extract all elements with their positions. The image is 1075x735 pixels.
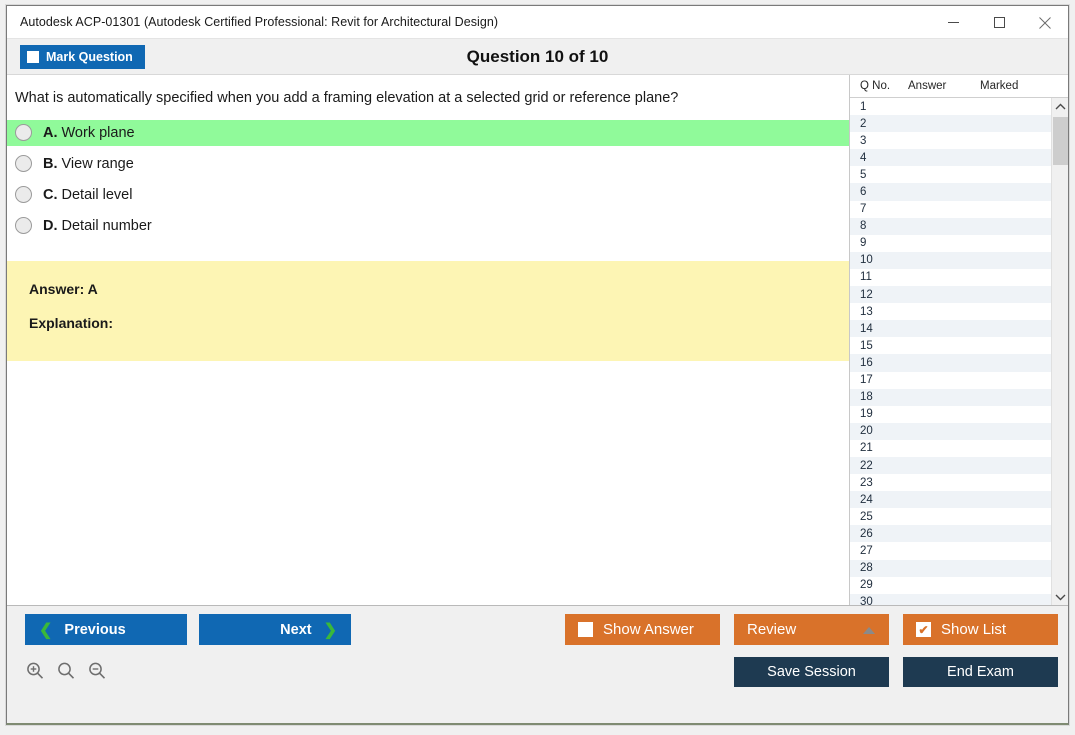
review-dropdown-button[interactable]: Review [734,614,889,645]
question-list-scrollbar[interactable] [1051,98,1068,605]
row-question-number: 25 [850,511,906,523]
question-list-row[interactable]: 3 [850,132,1051,149]
row-question-number: 7 [850,203,906,215]
scroll-up-icon[interactable] [1052,98,1068,115]
question-list-row[interactable]: 17 [850,372,1051,389]
mark-question-checkbox-icon[interactable] [27,51,39,63]
save-session-button[interactable]: Save Session [734,657,889,687]
next-label: Next [280,622,311,638]
row-question-number: 18 [850,391,906,403]
zoom-controls [25,661,107,686]
scrollbar-thumb[interactable] [1053,117,1068,165]
window-title: Autodesk ACP-01301 (Autodesk Certified P… [7,15,498,29]
answer-label: Answer: A [29,281,849,297]
explanation-label: Explanation: [29,315,849,331]
question-list-row[interactable]: 23 [850,474,1051,491]
option-letter: C. [43,187,58,203]
zoom-in-icon[interactable] [25,661,45,686]
row-question-number: 12 [850,289,906,301]
option-text: Detail level [62,187,133,203]
show-answer-button[interactable]: Show Answer [565,614,720,645]
answer-option-a[interactable]: A.Work plane [7,120,849,146]
row-question-number: 21 [850,442,906,454]
previous-button[interactable]: ❮ Previous [25,614,187,645]
question-list-row[interactable]: 10 [850,252,1051,269]
action-bar: Save Session End Exam [7,654,1068,701]
mark-question-button[interactable]: Mark Question [20,45,145,69]
option-text: Detail number [62,218,152,234]
maximize-icon[interactable] [976,6,1022,39]
question-list-row[interactable]: 7 [850,201,1051,218]
question-list-row[interactable]: 20 [850,423,1051,440]
row-question-number: 3 [850,135,906,147]
radio-button-icon[interactable] [15,124,32,141]
row-question-number: 1 [850,101,906,113]
radio-button-icon[interactable] [15,186,32,203]
radio-button-icon[interactable] [15,155,32,172]
question-text: What is automatically specified when you… [7,75,849,108]
question-list-row[interactable]: 2 [850,115,1051,132]
question-list-row[interactable]: 5 [850,166,1051,183]
title-bar: Autodesk ACP-01301 (Autodesk Certified P… [7,6,1068,39]
question-list-row[interactable]: 6 [850,183,1051,200]
option-letter: D. [43,218,58,234]
exam-simulator-app: Autodesk ACP-01301 (Autodesk Certified P… [0,0,1075,735]
row-question-number: 8 [850,220,906,232]
end-exam-label: End Exam [947,664,1014,680]
question-list-row[interactable]: 14 [850,320,1051,337]
row-question-number: 27 [850,545,906,557]
question-list-row[interactable]: 26 [850,525,1051,542]
question-counter: Question 10 of 10 [7,47,1068,67]
question-list-body: 1234567891011121314151617181920212223242… [850,98,1068,605]
answer-explanation-panel: Answer: A Explanation: [7,261,849,361]
row-question-number: 26 [850,528,906,540]
show-list-label: Show List [941,621,1006,638]
question-list-row[interactable]: 21 [850,440,1051,457]
chevron-up-icon [863,627,875,634]
next-button[interactable]: Next ❯ [199,614,351,645]
row-question-number: 13 [850,306,906,318]
answer-option-d[interactable]: D.Detail number [7,213,849,239]
row-question-number: 17 [850,374,906,386]
row-question-number: 28 [850,562,906,574]
end-exam-button[interactable]: End Exam [903,657,1058,687]
close-icon[interactable] [1022,6,1068,39]
question-list-row[interactable]: 15 [850,337,1051,354]
question-list-row[interactable]: 4 [850,149,1051,166]
answer-options-list: A.Work planeB.View rangeC.Detail levelD.… [7,120,849,239]
question-list-row[interactable]: 19 [850,406,1051,423]
scroll-down-icon[interactable] [1052,588,1068,605]
content-area: What is automatically specified when you… [7,74,1068,606]
column-header-marked: Marked [980,80,1060,92]
question-list-row[interactable]: 30 [850,594,1051,605]
question-list-row[interactable]: 13 [850,303,1051,320]
question-list-row[interactable]: 1 [850,98,1051,115]
save-session-label: Save Session [767,664,856,680]
option-text: View range [62,156,134,172]
previous-label: Previous [64,622,125,638]
column-header-answer: Answer [908,80,980,92]
show-list-button[interactable]: ✔ Show List [903,614,1058,645]
row-question-number: 14 [850,323,906,335]
row-question-number: 20 [850,425,906,437]
option-text: Work plane [62,125,135,141]
row-question-number: 10 [850,254,906,266]
row-question-number: 2 [850,118,906,130]
option-letter: B. [43,156,58,172]
question-pane: What is automatically specified when you… [7,75,849,605]
question-list-panel: Q No. Answer Marked 12345678910111213141… [849,75,1068,605]
question-list-row[interactable]: 9 [850,235,1051,252]
minimize-icon[interactable] [930,6,976,39]
row-question-number: 5 [850,169,906,181]
chevron-left-icon: ❮ [39,620,52,640]
row-question-number: 4 [850,152,906,164]
show-answer-label: Show Answer [603,621,694,638]
navigation-bar: ❮ Previous Next ❯ Show Answer Review ✔ S… [7,606,1068,654]
question-list-row[interactable]: 16 [850,354,1051,371]
column-header-qno: Q No. [850,80,908,92]
question-list-row[interactable]: 22 [850,457,1051,474]
row-question-number: 11 [850,271,906,283]
row-question-number: 30 [850,596,906,605]
row-question-number: 15 [850,340,906,352]
question-list-rows: 1234567891011121314151617181920212223242… [850,98,1051,605]
question-list-row[interactable]: 12 [850,286,1051,303]
question-list-row[interactable]: 29 [850,577,1051,594]
mark-question-label: Mark Question [46,50,133,64]
row-question-number: 22 [850,460,906,472]
zoom-out-icon[interactable] [87,661,107,686]
question-list-row[interactable]: 25 [850,508,1051,525]
row-question-number: 19 [850,408,906,420]
row-question-number: 9 [850,237,906,249]
question-list-row[interactable]: 11 [850,269,1051,286]
row-question-number: 6 [850,186,906,198]
row-question-number: 23 [850,477,906,489]
radio-button-icon[interactable] [15,217,32,234]
question-list-row[interactable]: 8 [850,218,1051,235]
question-header-bar: Mark Question Question 10 of 10 [7,39,1068,74]
question-list-row[interactable]: 27 [850,542,1051,559]
row-question-number: 16 [850,357,906,369]
question-list-header: Q No. Answer Marked [850,75,1068,98]
application-window: Autodesk ACP-01301 (Autodesk Certified P… [6,5,1069,725]
question-list-row[interactable]: 24 [850,491,1051,508]
question-list-row[interactable]: 18 [850,389,1051,406]
window-controls [930,6,1068,39]
answer-option-b[interactable]: B.View range [7,151,849,177]
answer-option-c[interactable]: C.Detail level [7,182,849,208]
row-question-number: 24 [850,494,906,506]
chevron-right-icon: ❯ [324,620,337,640]
review-label: Review [747,621,796,638]
zoom-reset-icon[interactable] [56,661,76,686]
row-question-number: 29 [850,579,906,591]
show-answer-checkbox-icon[interactable] [578,622,593,637]
show-list-checkbox-icon[interactable]: ✔ [916,622,931,637]
option-letter: A. [43,125,58,141]
question-list-row[interactable]: 28 [850,560,1051,577]
